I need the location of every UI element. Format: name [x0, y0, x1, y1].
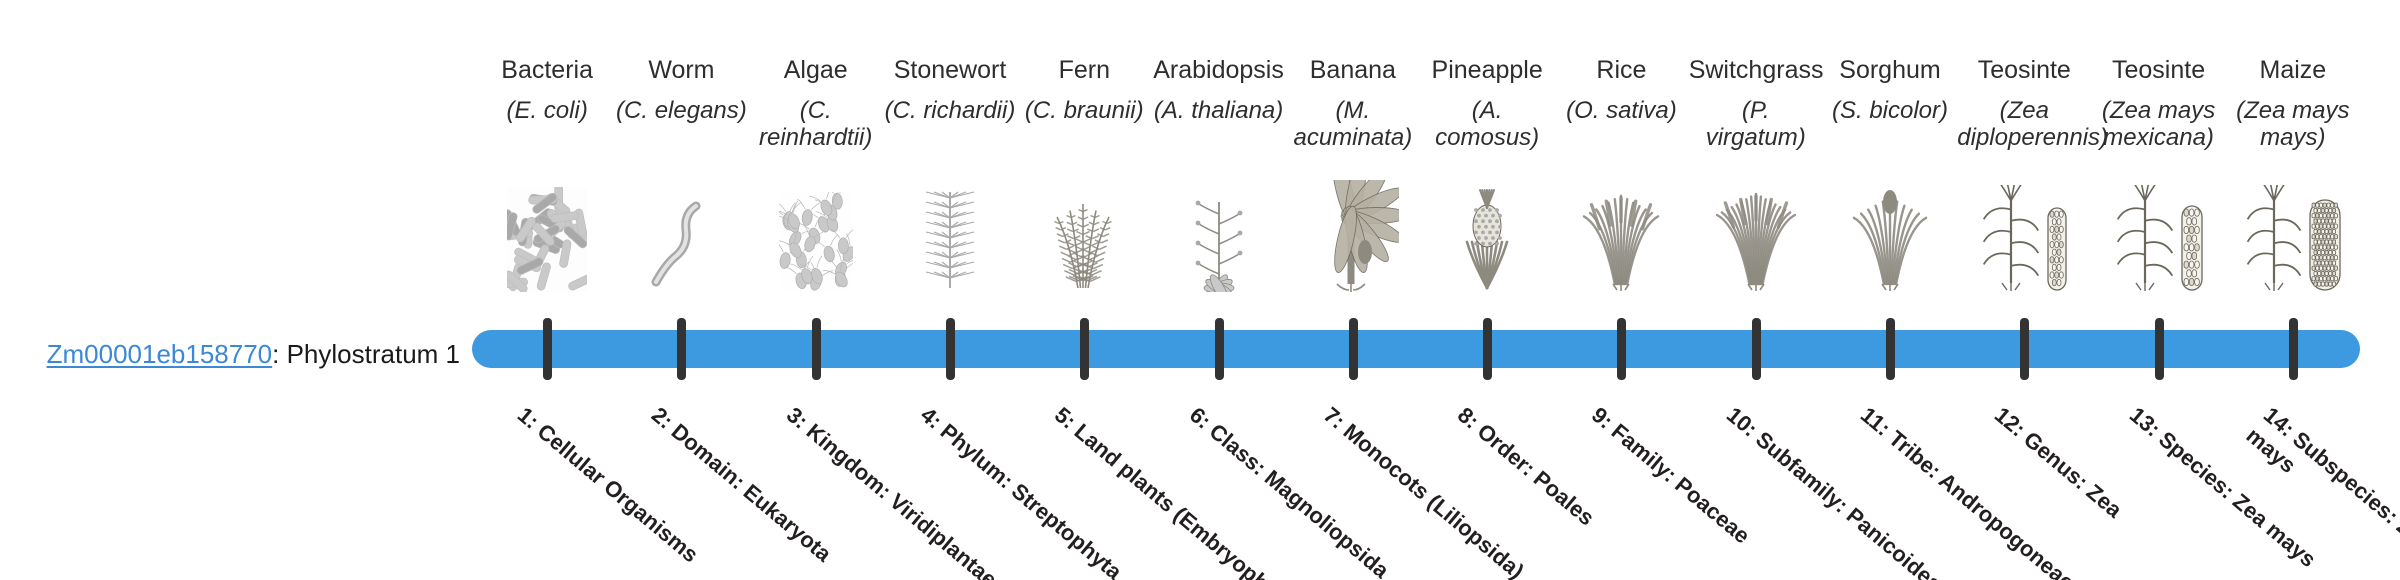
- phylostratum-tick[interactable]: [812, 318, 821, 380]
- taxon-scientific-name: (C. elegans): [614, 98, 748, 125]
- taxon-common-name: Stonewort: [883, 56, 1017, 85]
- phylostratum-tick[interactable]: [1752, 318, 1761, 380]
- taxon-common-name: Teosinte: [1957, 56, 2091, 85]
- taxon-common-name: Algae: [749, 56, 883, 85]
- taxon-scientific-name: (E. coli): [480, 98, 614, 125]
- taxon-scientific-name: (Zea diploperennis): [1957, 98, 2091, 152]
- maize-icon: [2226, 172, 2360, 292]
- taxon-scientific-name: (C. richardii): [883, 98, 1017, 125]
- arabidopsis-icon: [1152, 172, 1286, 292]
- phylostratum-tick[interactable]: [2155, 318, 2164, 380]
- phylostratum-tick[interactable]: [1483, 318, 1492, 380]
- taxon-scientific-name: (S. bicolor): [1823, 98, 1957, 125]
- taxon-common-name: Maize: [2226, 56, 2360, 85]
- phylostratum-tick[interactable]: [1215, 318, 1224, 380]
- taxon-scientific-name: (C. braunii): [1017, 98, 1151, 125]
- phylostratum-tick[interactable]: [543, 318, 552, 380]
- taxon-scientific-name: (A. thaliana): [1152, 98, 1286, 125]
- pineapple-icon: [1420, 172, 1554, 292]
- taxon-scientific-name: (A. comosus): [1420, 98, 1554, 152]
- taxon-scientific-name: (M. acuminata): [1286, 98, 1420, 152]
- sorghum-icon: [1823, 172, 1957, 292]
- phylostratum-text: : Phylostratum 1: [272, 339, 460, 369]
- taxon-scientific-name: (O. sativa): [1554, 98, 1688, 125]
- taxon-common-name: Switchgrass: [1689, 56, 1823, 85]
- algae-icon: [749, 172, 883, 292]
- taxon-common-name: Bacteria: [480, 56, 614, 85]
- phylostratum-tick[interactable]: [2020, 318, 2029, 380]
- switchgrass-icon: [1689, 172, 1823, 292]
- taxon-column: Bacteria(E. coli): [480, 0, 614, 580]
- bacteria-icon: [480, 172, 614, 292]
- phylostratum-tick[interactable]: [1886, 318, 1895, 380]
- phylostratum-tick[interactable]: [1080, 318, 1089, 380]
- phylostratum-tick[interactable]: [946, 318, 955, 380]
- phylostratum-tick[interactable]: [677, 318, 686, 380]
- taxon-common-name: Worm: [614, 56, 748, 85]
- taxon-common-name: Rice: [1554, 56, 1688, 85]
- phylostratum-tick[interactable]: [1349, 318, 1358, 380]
- taxon-common-name: Sorghum: [1823, 56, 1957, 85]
- taxon-scientific-name: (Zea mays mays): [2226, 98, 2360, 152]
- gene-id-link[interactable]: Zm00001eb158770: [47, 339, 273, 369]
- taxon-scientific-name: (Zea mays mexicana): [2092, 98, 2226, 152]
- taxon-common-name: Banana: [1286, 56, 1420, 85]
- taxon-scientific-name: (P. virgatum): [1689, 98, 1823, 152]
- teosinte-diploperennis-icon: [1957, 172, 2091, 292]
- stonewort-icon: [883, 172, 1017, 292]
- fern-icon: [1017, 172, 1151, 292]
- phylostratigraphy-figure: Zm00001eb158770: Phylostratum 1 Bacteria…: [0, 0, 2400, 580]
- taxon-common-name: Teosinte: [2092, 56, 2226, 85]
- row-label: Zm00001eb158770: Phylostratum 1: [40, 340, 460, 369]
- teosinte-mexicana-icon: [2092, 172, 2226, 292]
- rice-icon: [1554, 172, 1688, 292]
- taxon-common-name: Arabidopsis: [1152, 56, 1286, 85]
- taxon-common-name: Pineapple: [1420, 56, 1554, 85]
- taxon-common-name: Fern: [1017, 56, 1151, 85]
- phylostratum-tick[interactable]: [1617, 318, 1626, 380]
- phylostratum-tick[interactable]: [2289, 318, 2298, 380]
- taxon-scientific-name: (C. reinhardtii): [749, 98, 883, 152]
- banana-icon: [1286, 172, 1420, 292]
- worm-icon: [614, 172, 748, 292]
